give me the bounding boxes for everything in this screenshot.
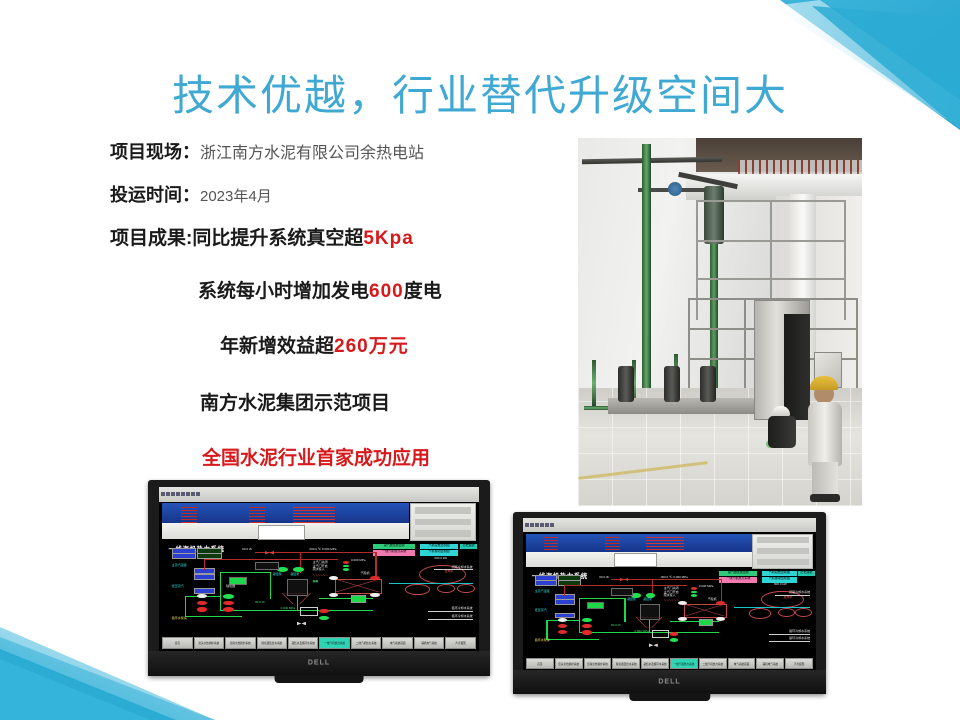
- legend-dot-drain: [691, 594, 697, 597]
- monitor-left-brand-logo: DELL: [148, 660, 490, 667]
- vessel-cone: [282, 593, 311, 604]
- tab-auxiliary-electrical[interactable]: 辅机电气系统: [414, 637, 444, 648]
- flow-reading: 00.0 t/h: [599, 576, 609, 579]
- tab-electrical-system[interactable]: 电气系统画面: [728, 658, 756, 669]
- condensate-left-riser: [185, 596, 186, 617]
- info-box: [194, 588, 215, 594]
- scada-diagram-left: 凝汽器性能监视 汽机段数监视图 历史趋势 一线汽机热力系统 汽机振动监视图 主蒸…: [159, 541, 479, 636]
- text-line-demo-project: 南方水泥集团示范项目: [200, 388, 540, 415]
- tank-symbol: [255, 562, 279, 571]
- scada-diagram-right: 凝汽器性能监视 汽机段数监视图 历史趋势 一线汽机热力系统 汽机振动监视图 主蒸…: [523, 569, 816, 657]
- scada-text: 低压蒸汽: [535, 609, 547, 612]
- toolbar-icon[interactable]: [181, 492, 185, 496]
- tab-deaerator-feedwater[interactable]: 除氧器及给水系统: [612, 658, 640, 669]
- condensate-riser: [220, 572, 221, 610]
- scada-text: 除氧器: [226, 585, 235, 588]
- scada-text: 主蒸汽温度: [172, 564, 187, 567]
- condenser-level: [699, 619, 713, 626]
- plant-photo: [578, 138, 862, 506]
- status-panel-row: [415, 507, 471, 513]
- scada-text: ∿∿∿∿∿∿: [313, 574, 328, 577]
- toolbar-icon[interactable]: [530, 523, 534, 527]
- scada-text: 闭路冷却水系统: [452, 566, 473, 569]
- pump-red: [558, 624, 567, 628]
- drain-valve-green: [670, 638, 679, 642]
- condensate-branch: [624, 598, 625, 623]
- tag-turbine-thermal-system[interactable]: 一线汽机热力系统: [373, 550, 415, 556]
- toolbar-icon[interactable]: [161, 492, 165, 496]
- tab-line1-turbine-thermal[interactable]: 一线汽机热力系统: [319, 637, 349, 648]
- steam-reading: 000.0 ℃ 0.000 MPa: [661, 576, 688, 579]
- scada-banner-bar: [162, 503, 409, 523]
- pump-white: [558, 618, 567, 622]
- tab-alarm[interactable]: 声光报警: [445, 637, 475, 648]
- text-line-result-vacuum: 项目成果:同比提升系统真空超5Kpa: [110, 223, 540, 250]
- vacuum-pump-symbol-1: [778, 608, 795, 617]
- label-result: 项目成果:: [110, 228, 192, 249]
- circ-line-2: [428, 619, 473, 620]
- scada-status-panel: [752, 534, 813, 569]
- toolbar-icon[interactable]: [550, 523, 554, 527]
- generator-label: 发电机: [784, 596, 793, 599]
- presentation-slide: 技术优越，行业替代升级空间大 项目现场：浙江南方水泥有限公司余热电站 投运时间：…: [0, 0, 960, 720]
- tab-auxiliary-electrical[interactable]: 辅机电气系统: [756, 658, 784, 669]
- scada-text: ∿∿∿∿∿∿: [664, 599, 679, 602]
- legend-dot-closed: [691, 587, 697, 590]
- scada-toolbar[interactable]: [159, 487, 479, 502]
- flow-reading: 00.0 t/h: [242, 548, 252, 551]
- photo-pump-1: [618, 366, 634, 402]
- valve-white: [716, 617, 725, 621]
- label-commission-date: 投运时间：: [110, 185, 200, 205]
- scada-text: 主蒸汽温度: [535, 590, 550, 593]
- steam-valve: [620, 578, 629, 582]
- monitor-left-screen: 一线汽机热力系统 凝汽器性能监视 汽机段数监视图 历史趋势 一线汽机热力系统 汽…: [159, 487, 479, 651]
- tank-symbol: [611, 588, 634, 596]
- status-panel-row: [415, 530, 471, 536]
- drain-valve-red: [319, 609, 329, 613]
- photo-pump-3: [700, 366, 716, 402]
- photo-worker-legs: [812, 462, 838, 496]
- level-indicator: [587, 602, 604, 609]
- generator-label: 发电机: [444, 570, 453, 573]
- generator-reading: 000.0 kW: [774, 583, 787, 586]
- tab-line2-turbine-thermal[interactable]: 二线汽机热力系统: [699, 658, 727, 669]
- vacuum-pump-symbol-2: [457, 584, 475, 594]
- toolbar-icon[interactable]: [196, 492, 200, 496]
- pump-red: [197, 601, 207, 605]
- monitor-right: 一线汽机热力系统 凝汽器性能监视 汽机段数监视图 历史趋势 一线汽机热力系统 汽…: [513, 512, 826, 694]
- heat-exchanger-cross: [335, 579, 380, 592]
- legend-dot-closed: [343, 561, 349, 564]
- pump-label: 凝结泵: [273, 573, 282, 576]
- pump-red: [582, 624, 592, 628]
- toolbar-icon[interactable]: [166, 492, 170, 496]
- page-title: 技术优越，行业替代升级空间大: [0, 62, 960, 123]
- drain-valve-green: [319, 616, 329, 620]
- legend-dot-drain: [343, 568, 349, 571]
- scada-text: ▦▦: [313, 580, 319, 583]
- tab-line2-turbine-thermal[interactable]: 二线汽机热力系统: [351, 637, 381, 648]
- label-project-site: 项目现场：: [110, 142, 200, 162]
- scada-text: 循环冷却水系统: [452, 607, 473, 610]
- vessel-cone: [636, 617, 662, 628]
- condensate-header: [579, 598, 626, 599]
- monitor-right-stand: [629, 693, 710, 701]
- text-line-project-site: 项目现场：浙江南方水泥有限公司余热电站: [110, 138, 540, 164]
- steam-reading: 000.0 ℃ 0.000 MPa: [309, 548, 336, 551]
- pump-red: [558, 630, 567, 634]
- steam-to-turbine-pipe: [721, 579, 722, 604]
- value-project-site: 浙江南方水泥有限公司余热电站: [200, 145, 424, 162]
- makeup-line: [434, 569, 472, 570]
- valve-white: [678, 617, 687, 621]
- info-box: [535, 580, 558, 586]
- monitor-left: 一线汽机热力系统 凝汽器性能监视 汽机段数监视图 历史趋势 一线汽机热力系统 汽…: [148, 480, 490, 676]
- pressure-reading: 0.000 MPa: [699, 585, 714, 588]
- monitor-right-bezel: DELL: [513, 670, 826, 694]
- scada-text: 闭路冷却水系统: [789, 591, 810, 594]
- valve-white: [329, 593, 339, 597]
- pump-label: 凝结泵: [290, 573, 299, 576]
- info-box: [194, 574, 215, 580]
- circ-line-1: [428, 611, 473, 612]
- tab-kiln-tail-boiler[interactable]: 窑尾余热锅炉系统: [225, 637, 255, 648]
- value-power-increase: 系统每小时增加发电: [198, 281, 369, 302]
- circulating-pump-symbol: [749, 608, 772, 619]
- condensate-left-riser: [546, 620, 547, 639]
- tag-condenser-performance[interactable]: 凝汽器性能监视: [373, 544, 415, 550]
- status-panel-row: [415, 519, 471, 525]
- circulating-pump-symbol: [405, 584, 429, 595]
- tag-turbine-thermal-system[interactable]: 一线汽机热力系统: [719, 577, 757, 582]
- heat-exchanger-cross: [684, 604, 725, 616]
- tab-kiln-head-boiler[interactable]: 窑头余热锅炉系统: [555, 658, 583, 669]
- legend-label: 疏水投入: [664, 594, 676, 597]
- scada-input-field[interactable]: [614, 553, 657, 567]
- pump-label: 凝结泵: [627, 598, 636, 601]
- valve-white: [370, 593, 380, 597]
- photo-crouching-worker-body: [768, 416, 796, 448]
- legend-dot-open: [691, 591, 697, 594]
- photo-crouching-worker: [768, 406, 798, 454]
- tab-condensate-circ-water[interactable]: 凝结水及循环水系统: [288, 637, 318, 648]
- condenser-level: [351, 595, 366, 603]
- monitor-right-screen: 一线汽机热力系统 凝汽器性能监视 汽机段数监视图 历史趋势 一线汽机热力系统 汽…: [523, 518, 816, 670]
- flow-reading: 0.000 MPa: [634, 630, 649, 633]
- tab-home[interactable]: 首页: [162, 637, 192, 648]
- status-panel-row: [757, 548, 809, 554]
- tag-condenser-performance[interactable]: 凝汽器性能监视: [719, 571, 757, 576]
- legend-dot-open: [343, 565, 349, 568]
- pump-white: [197, 594, 207, 598]
- scada-text: 循环冷却水系统: [452, 615, 473, 618]
- photo-pump-2: [664, 366, 680, 402]
- scada-tab-bar[interactable]: 首页 窑头余热锅炉系统 窑尾余热锅炉系统 除氧器及给水系统 凝结水及循环水系统 …: [162, 637, 476, 648]
- highlight-vacuum-value: 5Kpa: [363, 228, 413, 249]
- toolbar-icon[interactable]: [535, 523, 539, 527]
- text-line-first-application: 全国水泥行业首家成功应用: [202, 443, 540, 470]
- photo-worker-uniform: [808, 402, 842, 466]
- vacuum-pump-symbol-1: [437, 584, 455, 594]
- steam-drop-pipe: [564, 585, 565, 596]
- scada-screen-left: 一线汽机热力系统 凝汽器性能监视 汽机段数监视图 历史趋势 一线汽机热力系统 汽…: [159, 487, 479, 651]
- circ-line-1: [769, 634, 810, 635]
- info-box: [555, 613, 575, 619]
- condensate-lower-line: [185, 616, 243, 617]
- vacuum-pump-symbol-2: [795, 608, 812, 617]
- pump-red: [223, 607, 234, 612]
- tab-condensate-circ-water[interactable]: 凝结水及循环水系统: [641, 658, 669, 669]
- pump-red: [223, 601, 234, 606]
- bottom-valve: [297, 622, 307, 626]
- steam-to-turbine-pipe: [375, 552, 376, 579]
- scada-text: 循环水泵房: [172, 617, 187, 620]
- scada-text: 低压蒸汽: [172, 585, 184, 588]
- text-line-annual-benefit: 年新增效益超260万元: [220, 331, 540, 358]
- flow-reading: 00.0 t/h: [255, 601, 265, 604]
- scada-screen-right: 一线汽机热力系统 凝汽器性能监视 汽机段数监视图 历史趋势 一线汽机热力系统 汽…: [523, 518, 816, 670]
- turbine-label: 汽轮机: [361, 572, 370, 575]
- tab-alarm[interactable]: 声光报警: [785, 658, 813, 669]
- pressure-reading: 0.000 MPa: [351, 559, 366, 562]
- suffix-power-unit: 度电: [404, 281, 442, 302]
- highlight-power-value: 600: [369, 281, 404, 302]
- toolbar-icon[interactable]: [191, 492, 195, 496]
- value-result-vacuum: 同比提升系统真空超: [192, 228, 363, 249]
- pump-green: [582, 618, 592, 622]
- scada-status-panel: [410, 503, 476, 541]
- tab-line1-turbine-thermal[interactable]: 一线汽机热力系统: [670, 658, 698, 669]
- tab-kiln-head-boiler[interactable]: 窑头余热锅炉系统: [194, 637, 224, 648]
- tab-deaerator-feedwater[interactable]: 除氧器及给水系统: [257, 637, 287, 648]
- value-annual-benefit: 年新增效益超: [220, 336, 334, 357]
- flow-reading: 0.000 MPa: [281, 607, 296, 610]
- toolbar-icon[interactable]: [171, 492, 175, 496]
- scada-text: 循环水泵房: [535, 639, 550, 642]
- photo-green-branch-1: [592, 360, 596, 406]
- info-box: [555, 599, 575, 605]
- steam-drop-pipe: [204, 559, 205, 570]
- flow-reading: 00.0 t/h: [611, 624, 621, 627]
- pump-red: [582, 630, 592, 634]
- scada-toolbar[interactable]: [523, 518, 816, 532]
- photo-white-helmet: [772, 406, 790, 416]
- pump-label: 凝结泵: [643, 598, 652, 601]
- turbine-label: 汽轮机: [708, 598, 717, 601]
- drain-box: [300, 607, 318, 616]
- tag-stage-monitor[interactable]: 汽机段数监视图: [762, 571, 797, 576]
- tag-history-trend[interactable]: 历史趋势: [460, 544, 478, 550]
- condensate-branch: [270, 572, 271, 599]
- cooling-water-line: [734, 607, 810, 608]
- drain-valve-red: [670, 632, 679, 636]
- scada-banner-bar: [526, 534, 752, 552]
- value-commission-date: 2023年4月: [200, 188, 272, 205]
- tag-stage-monitor[interactable]: 汽机段数监视图: [420, 544, 458, 550]
- content-block: 项目现场：浙江南方水泥有限公司余热电站 投运时间：2023年4月 项目成果:同比…: [110, 138, 540, 470]
- photo-worker-shoes: [810, 494, 840, 502]
- scada-input-field[interactable]: [258, 525, 305, 540]
- generator-reading: 000.0 kW: [434, 557, 447, 560]
- toolbar-icon[interactable]: [176, 492, 180, 496]
- toolbar-icon[interactable]: [525, 523, 529, 527]
- makeup-line: [775, 595, 810, 596]
- scada-tab-bar[interactable]: 首页 窑头余热锅炉系统 窑尾余热锅炉系统 除氧器及给水系统 凝结水及循环水系统 …: [526, 658, 813, 669]
- pump-red: [197, 607, 207, 611]
- legend-label: 疏水投入: [313, 568, 325, 571]
- drain-box: [652, 630, 669, 638]
- steam-valve: [265, 551, 275, 555]
- condensate-lower-line: [546, 639, 599, 640]
- condensate-riser: [579, 598, 580, 633]
- bottom-valve: [649, 643, 658, 647]
- tab-electrical-system[interactable]: 电气系统画面: [382, 637, 412, 648]
- monitor-left-bezel: DELL: [148, 651, 490, 676]
- condensate-header: [220, 572, 271, 573]
- photo-standing-worker: [804, 374, 848, 502]
- pump-green: [223, 594, 234, 599]
- text-line-power-increase: 系统每小时增加发电600度电: [198, 276, 540, 303]
- tab-home[interactable]: 首页: [526, 658, 554, 669]
- text-line-commission-date: 投运时间：2023年4月: [110, 181, 540, 207]
- info-box: [172, 553, 196, 559]
- monitor-right-brand-logo: DELL: [513, 679, 826, 686]
- tag-history-trend[interactable]: 历史趋势: [798, 571, 814, 576]
- highlight-benefit-value: 260万元: [334, 336, 409, 357]
- status-panel-row: [757, 537, 809, 543]
- photo-blue-valve: [668, 182, 682, 196]
- toolbar-icon[interactable]: [186, 492, 190, 496]
- toolbar-icon[interactable]: [540, 523, 544, 527]
- cooling-water-line: [389, 583, 472, 584]
- tab-kiln-tail-boiler[interactable]: 窑尾余热锅炉系统: [584, 658, 612, 669]
- status-panel-row: [757, 559, 809, 565]
- monitor-left-stand: [275, 675, 364, 683]
- toolbar-icon[interactable]: [545, 523, 549, 527]
- photo-yellow-helmet: [810, 376, 838, 390]
- circ-line-2: [769, 641, 810, 642]
